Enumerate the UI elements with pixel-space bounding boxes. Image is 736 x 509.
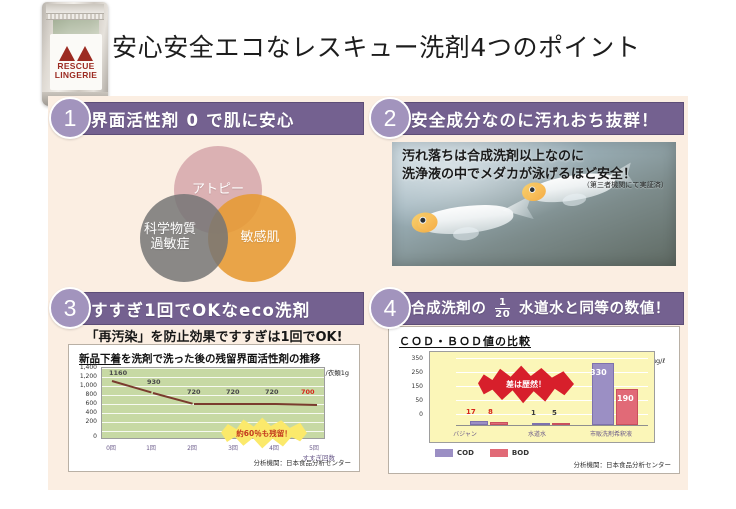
line-segment-3-4 <box>235 403 276 405</box>
photo-caption-line1: 汚れ落ちは合成洗剤以上なのに <box>402 149 584 164</box>
panel-4-heading-post: 水道水と同等の数値！ <box>519 301 670 317</box>
product-label: RESCUE LINGERIE <box>50 34 102 90</box>
panel-4: 合成洗剤の 1 20 水道水と同等の数値！ 4 ＣＯＤ・ＢＯＤ値の比較 単位： … <box>368 286 688 490</box>
fraction-one-twentieth: 1 20 <box>495 298 510 320</box>
line-ytick-200: 200 <box>71 418 97 425</box>
bar-chart-card: ＣＯＤ・ＢＯＤ値の比較 単位： μg/ℓ <box>388 326 680 474</box>
line-value-4: 720 <box>265 388 279 396</box>
panels-board: 界面活性剤 0 で肌に安心 1 アトピー 科学物質過敏症 敏感肌 安 <box>48 96 688 490</box>
line-ytick-1000: 1,000 <box>71 382 97 389</box>
bar-value-cod-bajan: 17 <box>466 408 476 416</box>
panel-2-headerbar: 安全成分なのに汚れおち抜群！ <box>384 102 684 135</box>
line-segment-2-3 <box>194 403 235 405</box>
page-title: 安心安全エコなレスキュー洗剤4つのポイント <box>112 28 641 64</box>
line-xtick-0: 0回 <box>99 443 123 452</box>
page-header: RESCUE LINGERIE 安心安全エコなレスキュー洗剤4つのポイント <box>0 0 736 96</box>
product-pouch-image: RESCUE LINGERIE <box>42 2 108 106</box>
fraction-denominator: 20 <box>495 308 510 320</box>
line-chart-source: 分析機関：日本食品分析センター <box>254 457 352 467</box>
legend-label-bod: BOD <box>512 449 529 457</box>
bar-value-cod-tapwater: 1 <box>531 409 536 417</box>
bar-bod-bajan <box>490 422 508 425</box>
line-value-5: 700 <box>301 388 315 396</box>
legend-item-bod: BOD <box>490 449 529 457</box>
bar-xtick-tapwater: 水道水 <box>511 429 563 438</box>
panel-1-headerbar: 界面活性剤 0 で肌に安心 <box>64 102 364 135</box>
legend-label-cod: COD <box>457 449 474 457</box>
bar-value-bod-commercial: 190 <box>617 394 634 403</box>
venn-label-chemical-sensitivity: 科学物質過敏症 <box>144 223 224 253</box>
panel-3-headerbar: すすぎ1回でOKなeco洗剤 <box>64 292 364 325</box>
mountain-logo-icon <box>59 46 93 61</box>
line-value-0: 1160 <box>109 369 127 377</box>
panel-1-number-badge: 1 <box>49 97 91 139</box>
panel-3: すすぎ1回でOKなeco洗剤 3 「再汚染」を防止効果ですすぎは1回でOK! 新… <box>48 286 368 490</box>
bar-ytick-150: 150 <box>397 383 423 390</box>
bar-value-cod-commercial: 330 <box>590 368 607 377</box>
brand-name-line2: LINGERIE <box>55 71 98 80</box>
fraction-numerator: 1 <box>499 298 507 308</box>
medaka-fish-photo: 汚れ落ちは合成洗剤以上なのに 洗浄液の中でメダカが泳げるほど安全！ （第三者機関… <box>392 142 676 266</box>
line-xtick-5: 5回 <box>302 443 326 452</box>
legend-item-cod: COD <box>435 449 474 457</box>
panel-1: 界面活性剤 0 で肌に安心 1 アトピー 科学物質過敏症 敏感肌 <box>48 96 368 286</box>
bar-ytick-250: 250 <box>397 369 423 376</box>
line-ytick-1200: 1,200 <box>71 373 97 380</box>
line-xtick-2: 2回 <box>180 443 204 452</box>
bar-value-bod-bajan: 8 <box>488 408 493 416</box>
venn-label-atopy: アトピー <box>192 183 244 198</box>
panel-3-number-badge: 3 <box>49 287 91 329</box>
line-xtick-1: 1回 <box>139 443 163 452</box>
bar-chart-legend: COD BOD <box>435 449 529 457</box>
venn-label-sensitive-skin: 敏感肌 <box>224 231 279 246</box>
bar-cod-tapwater <box>532 423 550 425</box>
bar-cod-bajan <box>470 421 488 425</box>
panel-4-headerbar: 合成洗剤の 1 20 水道水と同等の数値！ <box>384 292 684 325</box>
photo-verification-note: （第三者機関にて実証済） <box>583 180 668 190</box>
panel-4-heading-pre: 合成洗剤の <box>411 301 487 317</box>
panel-3-heading: すすぎ1回でOKなeco洗剤 <box>91 297 310 321</box>
venn-diagram: アトピー 科学物質過敏症 敏感肌 <box>64 140 364 280</box>
legend-swatch-cod <box>435 449 453 457</box>
bar-value-bod-tapwater: 5 <box>552 409 557 417</box>
line-ytick-400: 400 <box>71 409 97 416</box>
pouch-zipper <box>46 13 104 20</box>
panel-2-number-badge: 2 <box>369 97 411 139</box>
panel-3-subtitle: 「再汚染」を防止効果ですすぎは1回でOK! <box>64 326 364 345</box>
legend-swatch-bod <box>490 449 508 457</box>
bar-chart-source: 分析機関：日本食品分析センター <box>574 459 672 469</box>
panel-1-heading: 界面活性剤 0 で肌に安心 <box>91 107 295 131</box>
bar-xtick-commercial: 市販洗剤希釈液 <box>571 429 651 438</box>
line-segment-4-5 <box>276 403 317 406</box>
panel-2: 安全成分なのに汚れおち抜群！ 2 汚れ落ちは合成洗剤以上なのに 洗浄液の中でメダ… <box>368 96 688 286</box>
line-value-1: 930 <box>147 378 161 386</box>
line-ytick-1400: 1,400 <box>71 364 97 371</box>
panel-4-heading: 合成洗剤の 1 20 水道水と同等の数値！ <box>411 297 670 320</box>
panel-2-heading: 安全成分なのに汚れおち抜群！ <box>411 107 659 131</box>
venn-circle-chemical-sensitivity: 科学物質過敏症 <box>140 194 228 282</box>
line-value-2: 720 <box>187 388 201 396</box>
bar-ytick-350: 350 <box>397 355 423 362</box>
line-xtick-3: 3回 <box>221 443 245 452</box>
panel-4-number-badge: 4 <box>369 287 411 329</box>
pouch-top-seal <box>46 4 104 13</box>
bar-chart-title: ＣＯＤ・ＢＯＤ値の比較 <box>399 333 531 349</box>
bar-ytick-0: 0 <box>397 411 423 418</box>
bar-xtick-bajan: バジャン <box>439 429 491 438</box>
bar-ytick-50: 50 <box>397 397 423 404</box>
line-ytick-800: 800 <box>71 391 97 398</box>
line-ytick-600: 600 <box>71 400 97 407</box>
line-value-3: 720 <box>226 388 240 396</box>
line-chart-title: 新品下着を洗剤で洗った後の残留界面活性剤の推移 <box>79 351 321 366</box>
poster-page: RESCUE LINGERIE 安心安全エコなレスキュー洗剤4つのポイント 界面… <box>0 0 736 509</box>
line-chart-card: 新品下着を洗剤で洗った後の残留界面活性剤の推移 単位： μg/衣類1g <box>68 344 360 472</box>
bar-bod-tapwater <box>552 423 570 425</box>
line-chart-title-rest: を洗剤で洗った後の残留界面活性剤の推移 <box>121 353 321 365</box>
line-ytick-0: 0 <box>71 433 97 440</box>
